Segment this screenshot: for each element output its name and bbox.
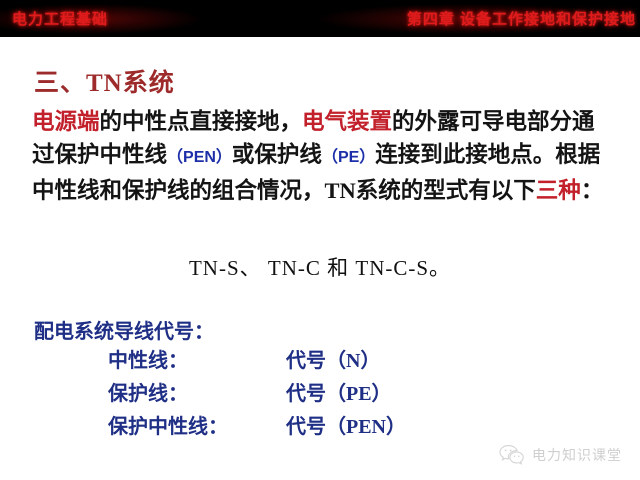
conductor-codes-table: 中性线： 代号（N） 保护线： 代号（PE） 保护中性线： 代号（PEN）: [108, 343, 406, 442]
table-row: 保护线： 代号（PE）: [108, 376, 406, 409]
code-value-pen: 代号（PEN）: [286, 409, 406, 442]
header-chapter-title: 第四章 设备工作接地和保护接地: [407, 8, 636, 29]
table-row: 保护中性线： 代号（PEN）: [108, 409, 406, 442]
header-course-title: 电力工程基础: [12, 8, 108, 29]
watermark-logo: 电力知识课堂: [499, 444, 622, 466]
code-value-neutral: 代号（N）: [286, 343, 406, 376]
watermark-text: 电力知识课堂: [532, 445, 622, 465]
term-electrical-device: 电气装置: [302, 109, 392, 134]
tn-types-line: TN-S、 TN-C 和 TN-C-S。: [0, 252, 640, 282]
section-heading: 三、TN系统: [34, 63, 175, 99]
paragraph-segment-2: 的中性点直接接地，: [100, 109, 303, 134]
term-three-types: 三种: [536, 178, 581, 203]
code-label-pen: 保护中性线：: [108, 409, 286, 442]
code-value-protective: 代号（PE）: [286, 376, 406, 409]
code-pe-inline: （PE）: [322, 149, 375, 166]
paragraph-tn-label: TN: [325, 178, 356, 203]
wechat-icon: [499, 444, 525, 466]
slide-header-bar: 电力工程基础 第四章 设备工作接地和保护接地: [0, 0, 640, 37]
table-row: 中性线： 代号（N）: [108, 343, 406, 376]
paragraph-segment-12: ：: [581, 178, 604, 203]
codes-section-title: 配电系统导线代号：: [34, 315, 214, 344]
body-paragraph: 电源端的中性点直接接地，电气装置的外露可导电部分通过保护中性线（PEN）或保护线…: [32, 105, 617, 207]
slide-content-area: 三、TN系统 电源端的中性点直接接地，电气装置的外露可导电部分通过保护中性线（P…: [0, 37, 640, 480]
paragraph-segment-10: 系统的型式有以下: [356, 178, 536, 203]
term-power-source-end: 电源端: [32, 109, 100, 134]
code-label-protective: 保护线：: [108, 376, 286, 409]
code-pen-inline: （PEN）: [167, 149, 232, 166]
paragraph-segment-6: 或保护线: [232, 142, 322, 167]
code-label-neutral: 中性线：: [108, 343, 286, 376]
